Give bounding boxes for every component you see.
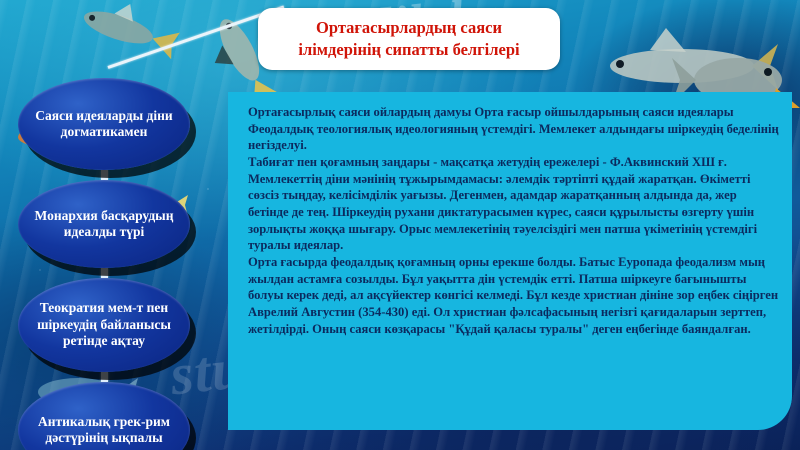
- slide-title-line-1: Ортағасырлардың саяси: [316, 17, 502, 39]
- chain-node-4-label: Антикалық грек-рим дәстүрінің ықпалы: [18, 382, 190, 450]
- slide-title-box: Ортағасырлардың саяси ілімдерінің сипатт…: [258, 8, 560, 70]
- chain-link-3: [101, 372, 108, 382]
- slide-canvas: studik.kz studik.kz studik.kz studik.kz …: [0, 0, 800, 450]
- chain-node-1[interactable]: Саяси идеяларды діни догматикамен: [18, 78, 190, 170]
- chain-node-2-label: Монархия басқарудың идеалды түрі: [18, 180, 190, 268]
- chain-node-1-label: Саяси идеяларды діни догматикамен: [18, 78, 190, 170]
- chain-node-3-label: Теократия мем-т пен шіркеудің байланысы …: [18, 278, 190, 372]
- chain-node-2[interactable]: Монархия басқарудың идеалды түрі: [18, 180, 190, 268]
- chain-node-4[interactable]: Антикалық грек-рим дәстүрінің ықпалы: [18, 382, 190, 450]
- chain-node-3[interactable]: Теократия мем-т пен шіркеудің байланысы …: [18, 278, 190, 372]
- slide-title-line-2: ілімдерінің сипатты белгілері: [298, 39, 519, 61]
- chain-link-1: [101, 170, 108, 180]
- content-body-text: Ортағасырлық саяси ойлардың дамуы Орта ғ…: [248, 104, 780, 337]
- concept-chain: Саяси идеяларды діни догматикамен Монарх…: [14, 78, 194, 450]
- chain-link-2: [101, 268, 108, 278]
- content-body: Ортағасырлық саяси ойлардың дамуы Орта ғ…: [240, 104, 788, 424]
